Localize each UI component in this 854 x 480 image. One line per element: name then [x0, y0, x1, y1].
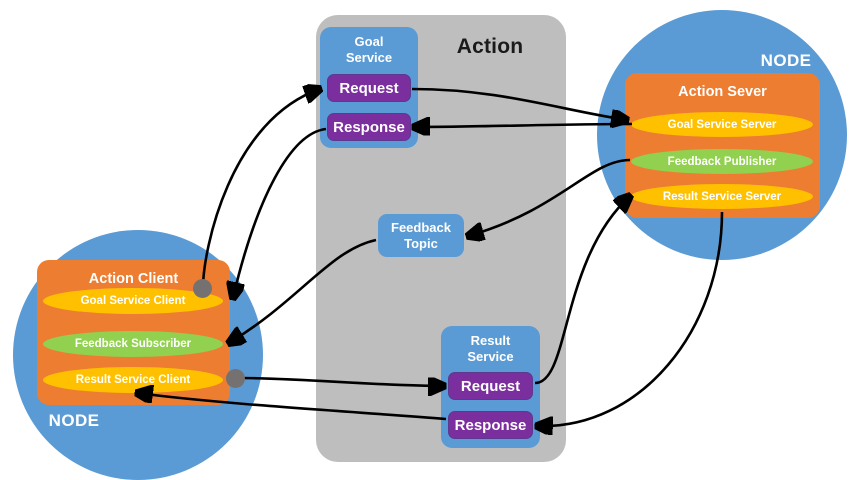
entity-label: Result Service Client [76, 374, 190, 386]
entity-label: Goal Service Client [81, 295, 186, 307]
arrow-goal-request-out [203, 89, 320, 288]
entity-feedback-publisher[interactable]: Feedback Publisher [631, 149, 813, 174]
action-panel-title: Action [420, 33, 560, 61]
diagram-canvas: Action Client Goal Service Client Feedba… [0, 0, 854, 480]
entity-feedback-subscriber[interactable]: Feedback Subscriber [43, 331, 223, 357]
entity-label: Goal Service Server [668, 119, 777, 131]
entity-label: Result Service Server [663, 191, 781, 203]
entity-label: Feedback Publisher [668, 156, 777, 168]
entity-label: Feedback Subscriber [75, 338, 191, 350]
entity-result-service-server[interactable]: Result Service Server [631, 184, 813, 209]
result-service-title-line2: Service [441, 349, 540, 365]
goal-service-request[interactable]: Request [327, 74, 411, 102]
client-node-label: NODE [28, 410, 120, 432]
connector-dot-result-client [226, 369, 245, 388]
action-server-title: Action Sever [625, 82, 820, 102]
entity-result-service-client[interactable]: Result Service Client [43, 367, 223, 393]
result-service-request[interactable]: Request [448, 372, 533, 400]
feedback-topic-line2: Topic [404, 236, 438, 252]
result-service-response[interactable]: Response [448, 411, 533, 439]
arrow-goal-response-to-client [233, 129, 326, 298]
connector-dot-goal-client [193, 279, 212, 298]
feedback-topic-line1: Feedback [391, 220, 451, 236]
goal-service-title-line2: Service [320, 50, 418, 66]
goal-service-title-line1: Goal [320, 34, 418, 50]
result-service-title-line1: Result [441, 333, 540, 349]
entity-goal-service-server[interactable]: Goal Service Server [631, 112, 813, 137]
goal-service-response[interactable]: Response [327, 113, 411, 141]
server-node-label: NODE [740, 50, 832, 72]
feedback-topic-box[interactable]: Feedback Topic [378, 214, 464, 257]
